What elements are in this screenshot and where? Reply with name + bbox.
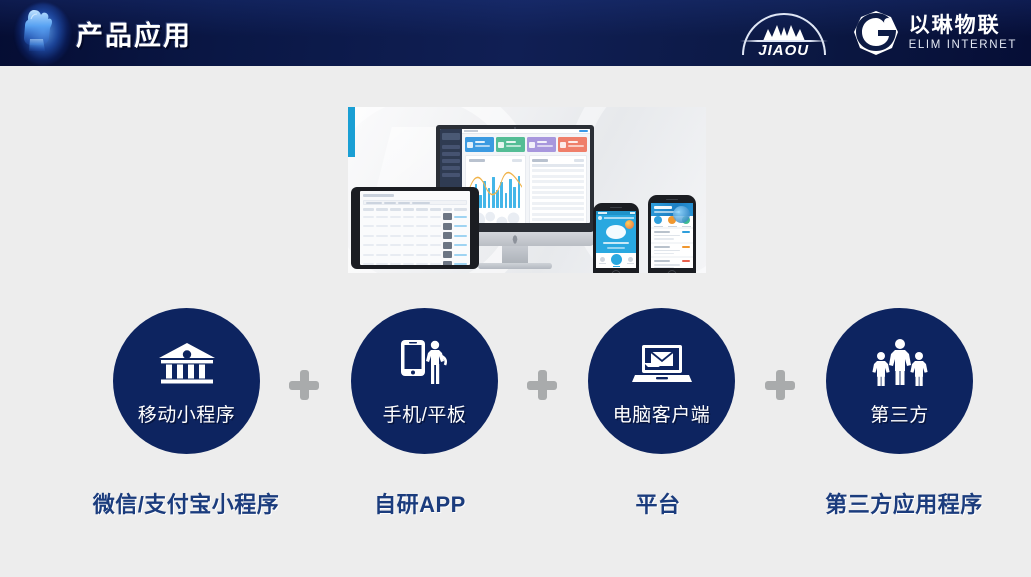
ipad-filter-bar: [363, 200, 467, 205]
laptop-mail-icon: [630, 335, 694, 387]
label-mini-program: 微信/支付宝小程序: [66, 487, 306, 519]
phone-bottom-nav: [596, 253, 636, 268]
node-third-party[interactable]: 第三方: [826, 308, 973, 454]
imac-stand-foot: [478, 263, 552, 269]
node-ellipse[interactable]: 电脑客户端: [588, 308, 735, 454]
dashboard-body: [462, 129, 590, 223]
bank-building-icon: [155, 335, 219, 387]
scan-disc-graphic: [606, 225, 626, 239]
mockup-accent-bar: [348, 107, 355, 157]
node-caption: 手机/平板: [383, 400, 467, 427]
phone-list-screen: [651, 203, 693, 268]
node-ellipse[interactable]: 手机/平板: [351, 308, 498, 454]
elim-name-cn: 以琳物联: [909, 15, 1017, 37]
ipad-page-title: [363, 194, 394, 197]
phone-home-button: [612, 270, 621, 274]
phone-home-button: [668, 270, 677, 274]
dashboard-menu-item: [442, 166, 460, 170]
phone-scan-screen: [596, 211, 636, 268]
globe-graphic: [673, 206, 690, 223]
node-mini-program[interactable]: 移动小程序: [113, 308, 260, 454]
dashboard-menu-item: [442, 159, 460, 163]
stat-card: [496, 137, 525, 152]
node-caption: 第三方: [870, 400, 929, 427]
phone-list-item: [651, 258, 693, 268]
stat-card: [558, 137, 587, 152]
phone-speaker: [610, 207, 622, 209]
nav-tab-active: [611, 254, 622, 268]
label-third-party: 第三方应用程序: [784, 487, 1024, 519]
stat-card: [465, 137, 494, 152]
plus-operator-3: [765, 370, 795, 400]
jiaou-wordmark: JIAOU: [738, 42, 830, 59]
three-people-icon: [868, 335, 932, 387]
phone-speaker: [666, 199, 678, 201]
stat-card: [527, 137, 556, 152]
dashboard-panes: [465, 155, 587, 223]
ipad-table-row: [363, 232, 467, 239]
dashboard-table-panel: [529, 155, 587, 223]
jiaou-logo: JIAOU: [738, 9, 830, 57]
node-ellipse[interactable]: 第三方: [826, 308, 973, 454]
page-header: 产品应用 JIAOU 以琳物联 ELIM INTERNE: [0, 0, 1031, 66]
ipad-table-row: [363, 261, 467, 265]
device-mockup-image: [348, 107, 706, 273]
phone-person-icon: [393, 335, 457, 387]
ipad-table-row: [363, 213, 467, 220]
phone-list-item: [651, 229, 693, 242]
ipad-table-row: [363, 242, 467, 249]
channel-nodes-row: 移动小程序 手机/平板: [0, 308, 1031, 456]
ipad-screen: [360, 191, 470, 265]
page-title: 产品应用: [76, 14, 192, 53]
label-platform: 平台: [538, 487, 778, 519]
phone-scan-device: [593, 203, 639, 273]
ipad-table-row: [363, 251, 467, 258]
plus-operator-1: [289, 370, 319, 400]
phone-hero-banner: [651, 203, 693, 216]
node-ellipse[interactable]: 移动小程序: [113, 308, 260, 454]
dashboard-logo: [442, 133, 460, 140]
elim-name-en: ELIM INTERNET: [909, 39, 1017, 51]
node-caption: 移动小程序: [138, 400, 236, 427]
phone-list-device: [648, 195, 696, 273]
channel-labels-row: 微信/支付宝小程序 自研APP 平台 第三方应用程序: [0, 487, 1031, 527]
node-app[interactable]: 手机/平板: [351, 308, 498, 454]
nav-tab: [599, 257, 606, 265]
elim-g-mark-icon: [852, 9, 900, 57]
elim-wordmark: 以琳物联 ELIM INTERNET: [909, 15, 1017, 51]
header-logos: JIAOU 以琳物联 ELIM INTERNET: [738, 0, 1017, 66]
label-app: 自研APP: [300, 487, 540, 519]
imac-stand-neck: [502, 246, 528, 263]
hero-title: [654, 206, 672, 209]
dashboard-topbar: [462, 129, 590, 134]
elim-logo: 以琳物联 ELIM INTERNET: [852, 9, 1017, 57]
phone-avatar-badge: [625, 220, 634, 229]
dashboard-stat-cards: [465, 137, 587, 152]
dashboard-menu-item: [442, 152, 460, 156]
ipad-table-row: [363, 223, 467, 230]
nav-tab: [627, 257, 634, 265]
dashboard-menu-item: [442, 145, 460, 149]
phone-list-item: [651, 244, 693, 257]
ipad-device: [351, 187, 479, 269]
plus-operator-2: [527, 370, 557, 400]
quick-action: [654, 216, 663, 227]
dashboard-menu-item: [442, 173, 460, 177]
ipad-table-header: [363, 208, 467, 211]
node-desktop-client[interactable]: 电脑客户端: [588, 308, 735, 454]
node-caption: 电脑客户端: [613, 400, 711, 427]
fist-icon: [8, 0, 78, 66]
